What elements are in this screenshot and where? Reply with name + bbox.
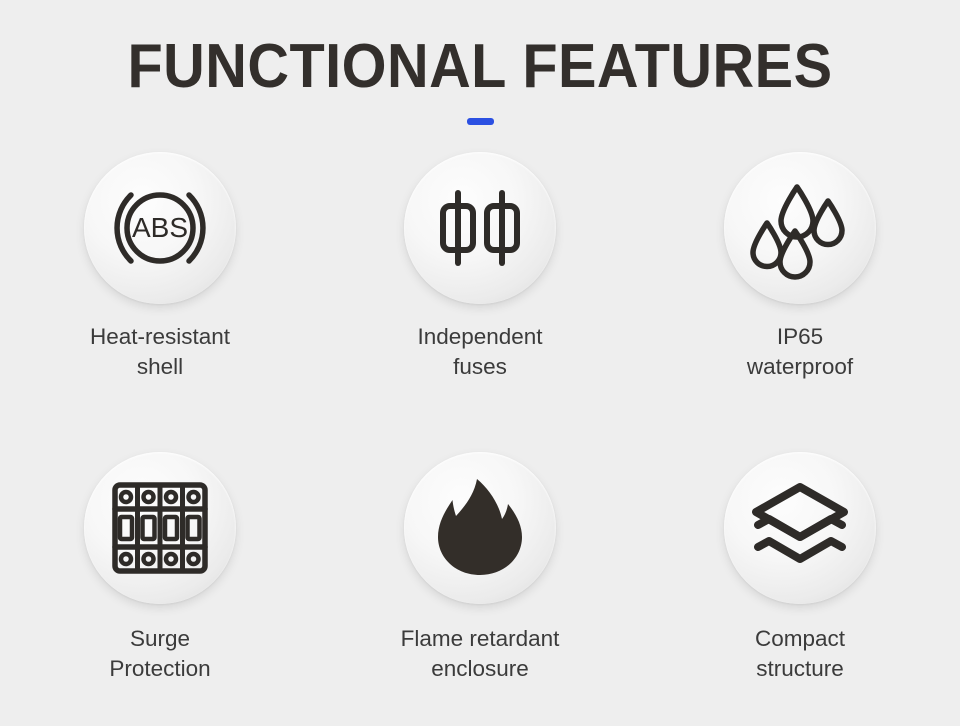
layers-icon bbox=[745, 473, 855, 583]
feature-label: Surge Protection bbox=[109, 624, 210, 684]
feature-icon-badge bbox=[404, 152, 556, 304]
feature-label: IP65 waterproof bbox=[747, 322, 853, 382]
flame-icon bbox=[425, 473, 535, 583]
feature-item-compact-structure: Compact structure bbox=[640, 452, 960, 726]
feature-item-heat-resistant-shell: ABS Heat-resistant shell bbox=[0, 152, 320, 452]
feature-label: Flame retardant enclosure bbox=[401, 624, 560, 684]
fuses-icon bbox=[425, 173, 535, 283]
feature-icon-badge bbox=[724, 452, 876, 604]
feature-item-flame-retardant-enclosure: Flame retardant enclosure bbox=[320, 452, 640, 726]
feature-item-ip65-waterproof: IP65 waterproof bbox=[640, 152, 960, 452]
water-droplets-icon bbox=[745, 173, 855, 283]
abs-brake-icon: ABS bbox=[105, 173, 215, 283]
abs-icon-text: ABS bbox=[132, 212, 188, 243]
feature-icon-badge bbox=[404, 452, 556, 604]
feature-icon-badge bbox=[84, 452, 236, 604]
feature-grid: ABS Heat-resistant shell bbox=[0, 152, 960, 726]
feature-label: Compact structure bbox=[755, 624, 845, 684]
title-divider bbox=[467, 118, 494, 125]
feature-label: Independent fuses bbox=[417, 322, 542, 382]
feature-item-surge-protection: Surge Protection bbox=[0, 452, 320, 726]
feature-icon-badge: ABS bbox=[84, 152, 236, 304]
feature-icon-badge bbox=[724, 152, 876, 304]
circuit-breaker-icon bbox=[105, 473, 215, 583]
page-title: FUNCTIONAL FEATURES bbox=[34, 34, 927, 99]
functional-features-page: FUNCTIONAL FEATURES ABS Heat-resistant s… bbox=[0, 0, 960, 726]
feature-label: Heat-resistant shell bbox=[90, 322, 230, 382]
feature-item-independent-fuses: Independent fuses bbox=[320, 152, 640, 452]
page-header: FUNCTIONAL FEATURES bbox=[0, 34, 960, 125]
